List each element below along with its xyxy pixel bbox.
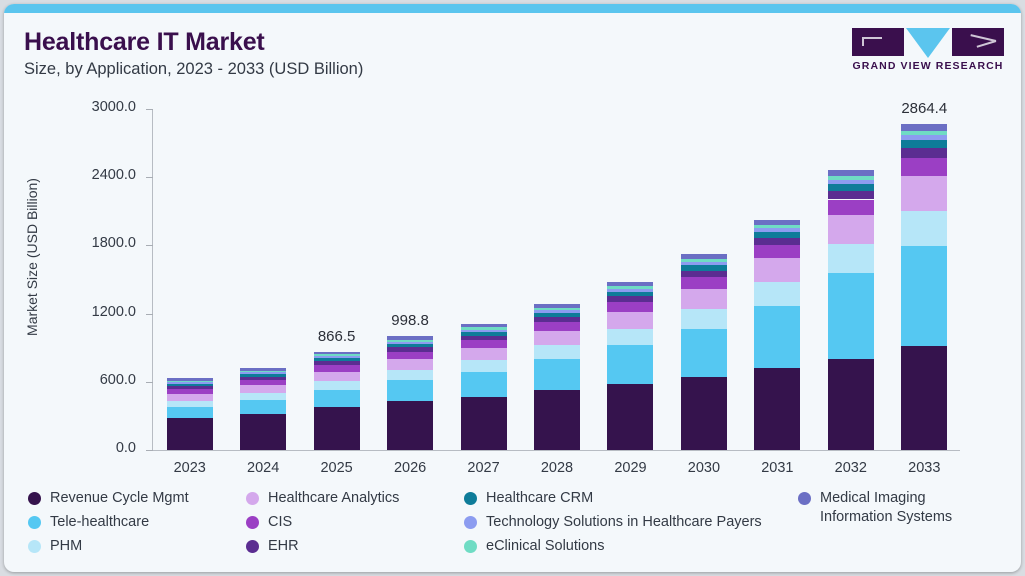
y-axis-tick-mark <box>146 109 153 110</box>
bar-segment[interactable] <box>607 312 653 329</box>
bar-segment[interactable] <box>461 330 507 332</box>
bar-segment[interactable] <box>387 340 433 342</box>
bar-segment[interactable] <box>607 289 653 292</box>
bar-segment[interactable] <box>828 180 874 184</box>
bar-segment[interactable] <box>681 277 727 288</box>
y-axis-tick-mark <box>146 450 153 451</box>
bar-segment[interactable] <box>681 329 727 378</box>
bar-segment[interactable] <box>828 273 874 359</box>
bar-segment[interactable] <box>314 356 360 358</box>
bar-segment[interactable] <box>387 342 433 344</box>
bar-segment[interactable] <box>607 329 653 345</box>
bar-segment[interactable] <box>754 258 800 282</box>
x-axis-tick-label: 2031 <box>737 460 817 476</box>
bar-segment[interactable] <box>754 368 800 450</box>
legend-label: Healthcare Analytics <box>268 489 399 508</box>
bar-value-label: 2864.4 <box>874 100 974 117</box>
y-axis-tick-label: 3000.0 <box>50 99 136 115</box>
bar-segment[interactable] <box>828 184 874 191</box>
bar-segment[interactable] <box>754 245 800 258</box>
legend-label: EHR <box>268 537 299 556</box>
bar-segment[interactable] <box>387 380 433 401</box>
bar-segment[interactable] <box>461 348 507 360</box>
bar-segment[interactable] <box>901 140 947 148</box>
bar-segment[interactable] <box>681 265 727 270</box>
y-axis-tick-mark <box>146 177 153 178</box>
bar-segment[interactable] <box>167 381 213 382</box>
bar-segment[interactable] <box>828 200 874 215</box>
bar-chart: Market Size (USD Billion) 0.0600.01200.0… <box>4 4 1021 572</box>
bar-segment[interactable] <box>754 225 800 228</box>
legend-label: Revenue Cycle Mgmt <box>50 489 189 508</box>
bar-segment[interactable] <box>754 282 800 305</box>
legend-label: Technology Solutions in Healthcare Payer… <box>486 513 762 532</box>
bar-segment[interactable] <box>314 352 360 355</box>
bar-segment[interactable] <box>534 390 580 450</box>
x-axis-tick-label: 2027 <box>444 460 524 476</box>
bar-segment[interactable] <box>314 390 360 407</box>
x-axis-tick-label: 2030 <box>664 460 744 476</box>
bar-segment[interactable] <box>901 135 947 140</box>
bar-segment[interactable] <box>607 302 653 312</box>
legend-item[interactable]: Revenue Cycle Mgmt <box>28 489 189 508</box>
bar-segment[interactable] <box>167 394 213 401</box>
bar-segment[interactable] <box>607 345 653 384</box>
legend-item[interactable]: Medical Imaging Information Systems <box>798 489 952 527</box>
legend-color-swatch-icon <box>798 492 811 505</box>
x-axis-line <box>152 450 960 451</box>
bar-segment[interactable] <box>387 336 433 339</box>
bar-segment[interactable] <box>607 282 653 286</box>
bar-segment[interactable] <box>167 384 213 387</box>
bar-2024[interactable] <box>240 368 286 450</box>
bar-segment[interactable] <box>387 370 433 380</box>
legend-color-swatch-icon <box>464 516 477 529</box>
bar-segment[interactable] <box>754 306 800 369</box>
bar-segment[interactable] <box>754 238 800 246</box>
y-axis-tick-mark <box>146 382 153 383</box>
bar-segment[interactable] <box>314 381 360 390</box>
legend-label: Medical Imaging Information Systems <box>820 489 952 527</box>
legend-label: Healthcare CRM <box>486 489 593 508</box>
bar-segment[interactable] <box>901 124 947 131</box>
y-axis-tick-mark <box>146 245 153 246</box>
x-axis-tick-label: 2032 <box>811 460 891 476</box>
bar-segment[interactable] <box>167 378 213 380</box>
chart-card: Healthcare IT Market Size, by Applicatio… <box>4 4 1021 572</box>
bar-segment[interactable] <box>901 148 947 158</box>
x-axis-tick-label: 2023 <box>150 460 230 476</box>
bar-segment[interactable] <box>901 211 947 246</box>
bar-segment[interactable] <box>461 324 507 327</box>
bar-segment[interactable] <box>901 176 947 211</box>
bar-segment[interactable] <box>314 365 360 371</box>
y-axis-label: Market Size (USD Billion) <box>24 167 40 347</box>
bar-segment[interactable] <box>314 354 360 356</box>
bar-segment[interactable] <box>534 308 580 310</box>
bar-segment[interactable] <box>534 304 580 308</box>
y-axis-tick-label: 0.0 <box>50 440 136 456</box>
bar-segment[interactable] <box>167 382 213 384</box>
bar-2030[interactable] <box>681 254 727 450</box>
bar-segment[interactable] <box>240 380 286 385</box>
bar-segment[interactable] <box>314 372 360 381</box>
x-axis-tick-label: 2033 <box>884 460 964 476</box>
bar-2029[interactable] <box>607 282 653 450</box>
bar-segment[interactable] <box>461 332 507 336</box>
x-axis-tick-label: 2025 <box>297 460 377 476</box>
bar-segment[interactable] <box>240 371 286 372</box>
bar-segment[interactable] <box>167 418 213 450</box>
y-axis-tick-mark <box>146 314 153 315</box>
bar-segment[interactable] <box>240 400 286 414</box>
bar-segment[interactable] <box>681 254 727 259</box>
legend-label: PHM <box>50 537 82 556</box>
bar-segment[interactable] <box>534 310 580 313</box>
legend-item[interactable]: EHR <box>246 537 299 556</box>
bar-segment[interactable] <box>534 359 580 390</box>
y-axis-tick-label: 1200.0 <box>50 304 136 320</box>
bar-segment[interactable] <box>754 228 800 232</box>
bar-segment[interactable] <box>387 347 433 352</box>
bar-segment[interactable] <box>240 414 286 450</box>
bar-segment[interactable] <box>901 346 947 450</box>
bar-segment[interactable] <box>387 344 433 348</box>
bar-2023[interactable] <box>167 378 213 450</box>
bar-segment[interactable] <box>314 361 360 365</box>
y-axis-line <box>152 109 153 450</box>
bar-segment[interactable] <box>167 386 213 389</box>
bar-segment[interactable] <box>534 322 580 331</box>
bar-segment[interactable] <box>240 377 286 381</box>
bar-segment[interactable] <box>240 393 286 400</box>
bar-2028[interactable] <box>534 304 580 450</box>
bar-segment[interactable] <box>828 170 874 176</box>
legend-item[interactable]: eClinical Solutions <box>464 537 604 556</box>
bar-segment[interactable] <box>167 407 213 418</box>
x-axis-tick-label: 2026 <box>370 460 450 476</box>
bar-segment[interactable] <box>461 372 507 398</box>
bar-segment[interactable] <box>901 158 947 176</box>
bar-segment[interactable] <box>681 271 727 278</box>
bar-segment[interactable] <box>534 313 580 317</box>
bar-segment[interactable] <box>607 286 653 289</box>
chart-legend: Revenue Cycle MgmtTele-healthcarePHMHeal… <box>28 489 1008 569</box>
bar-segment[interactable] <box>461 327 507 329</box>
bar-segment[interactable] <box>461 340 507 348</box>
bar-segment[interactable] <box>901 246 947 346</box>
legend-color-swatch-icon <box>28 540 41 553</box>
bar-segment[interactable] <box>314 358 360 361</box>
bar-segment[interactable] <box>240 385 286 393</box>
bar-segment[interactable] <box>828 215 874 244</box>
legend-color-swatch-icon <box>246 516 259 529</box>
bar-segment[interactable] <box>681 377 727 450</box>
legend-item[interactable]: CIS <box>246 513 292 532</box>
bar-segment[interactable] <box>167 389 213 394</box>
legend-item[interactable]: Healthcare CRM <box>464 489 593 508</box>
bar-segment[interactable] <box>461 360 507 371</box>
bar-segment[interactable] <box>828 191 874 200</box>
bar-segment[interactable] <box>240 368 286 371</box>
bar-2032[interactable] <box>828 170 874 450</box>
legend-color-swatch-icon <box>246 492 259 505</box>
bar-segment[interactable] <box>534 317 580 322</box>
x-axis-tick-label: 2024 <box>223 460 303 476</box>
legend-color-swatch-icon <box>28 492 41 505</box>
bar-segment[interactable] <box>607 292 653 297</box>
bar-segment[interactable] <box>240 372 286 374</box>
bar-segment[interactable] <box>461 397 507 450</box>
bar-segment[interactable] <box>461 336 507 341</box>
bar-segment[interactable] <box>754 232 800 238</box>
legend-color-swatch-icon <box>28 516 41 529</box>
bar-value-label: 998.8 <box>360 312 460 329</box>
bar-2027[interactable] <box>461 324 507 450</box>
y-axis-tick-label: 1800.0 <box>50 235 136 251</box>
bar-segment[interactable] <box>901 131 947 135</box>
bar-segment[interactable] <box>681 262 727 265</box>
bar-segment[interactable] <box>534 345 580 358</box>
legend-label: CIS <box>268 513 292 532</box>
bar-segment[interactable] <box>681 289 727 309</box>
bar-segment[interactable] <box>828 244 874 273</box>
legend-item[interactable]: Healthcare Analytics <box>246 489 399 508</box>
bar-value-label: 866.5 <box>287 328 387 345</box>
bar-segment[interactable] <box>534 331 580 345</box>
bar-segment[interactable] <box>167 401 213 407</box>
bar-segment[interactable] <box>387 401 433 450</box>
bar-segment[interactable] <box>387 359 433 370</box>
legend-item[interactable]: Tele-healthcare <box>28 513 149 532</box>
bar-segment[interactable] <box>314 407 360 450</box>
bar-segment[interactable] <box>607 296 653 302</box>
bar-2025[interactable] <box>314 352 360 450</box>
bar-segment[interactable] <box>754 220 800 225</box>
bar-2031[interactable] <box>754 220 800 450</box>
bar-segment[interactable] <box>828 176 874 180</box>
y-axis-tick-label: 600.0 <box>50 372 136 388</box>
legend-color-swatch-icon <box>464 540 477 553</box>
bar-segment[interactable] <box>681 259 727 262</box>
legend-item[interactable]: Technology Solutions in Healthcare Payer… <box>464 513 762 532</box>
bar-2026[interactable] <box>387 336 433 450</box>
legend-color-swatch-icon <box>246 540 259 553</box>
legend-color-swatch-icon <box>464 492 477 505</box>
bar-segment[interactable] <box>387 352 433 359</box>
y-axis-tick-label: 2400.0 <box>50 167 136 183</box>
legend-item[interactable]: PHM <box>28 537 82 556</box>
bar-2033[interactable] <box>901 124 947 450</box>
x-axis-tick-label: 2028 <box>517 460 597 476</box>
x-axis-tick-label: 2029 <box>590 460 670 476</box>
bar-segment[interactable] <box>681 309 727 328</box>
bar-segment[interactable] <box>240 374 286 377</box>
legend-label: eClinical Solutions <box>486 537 604 556</box>
legend-label: Tele-healthcare <box>50 513 149 532</box>
bar-segment[interactable] <box>607 384 653 450</box>
bar-segment[interactable] <box>828 359 874 450</box>
